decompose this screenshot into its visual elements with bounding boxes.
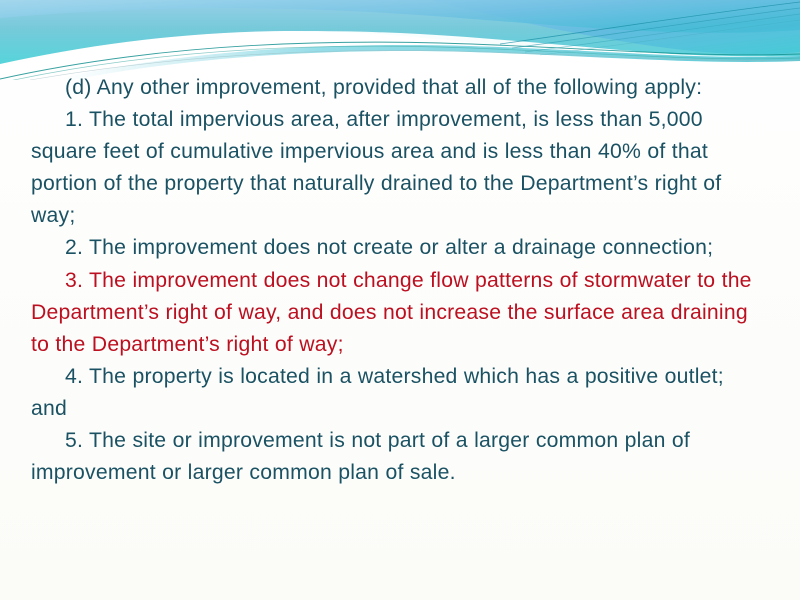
wave-diagonal-line-4 (540, 20, 800, 55)
wave-white-swoosh-band (0, 31, 800, 78)
wave-diagonal-line-3 (525, 14, 800, 52)
paragraph-item-2: 2. The improvement does not create or al… (31, 232, 753, 264)
wave-diagonal-line-2 (512, 8, 800, 48)
wave-upper-sheet (0, 0, 800, 33)
wave-banner-decoration (0, 0, 800, 80)
paragraph-item-1: 1. The total impervious area, after impr… (31, 104, 753, 232)
wave-diagonal-line-1 (500, 2, 800, 44)
wave-right-lobe (430, 0, 800, 54)
paragraph-item-4: 4. The property is located in a watershe… (31, 361, 753, 425)
wave-base-field (0, 0, 800, 64)
paragraph-item-d: (d) Any other improvement, provided that… (31, 72, 753, 104)
slide-body-text: (d) Any other improvement, provided that… (31, 72, 753, 489)
wave-banner-graphic (0, 0, 800, 80)
paragraph-item-5: 5. The site or improvement is not part o… (31, 425, 753, 489)
paragraph-item-3: 3. The improvement does not change flow … (31, 265, 753, 361)
slide-canvas: (d) Any other improvement, provided that… (0, 0, 800, 600)
